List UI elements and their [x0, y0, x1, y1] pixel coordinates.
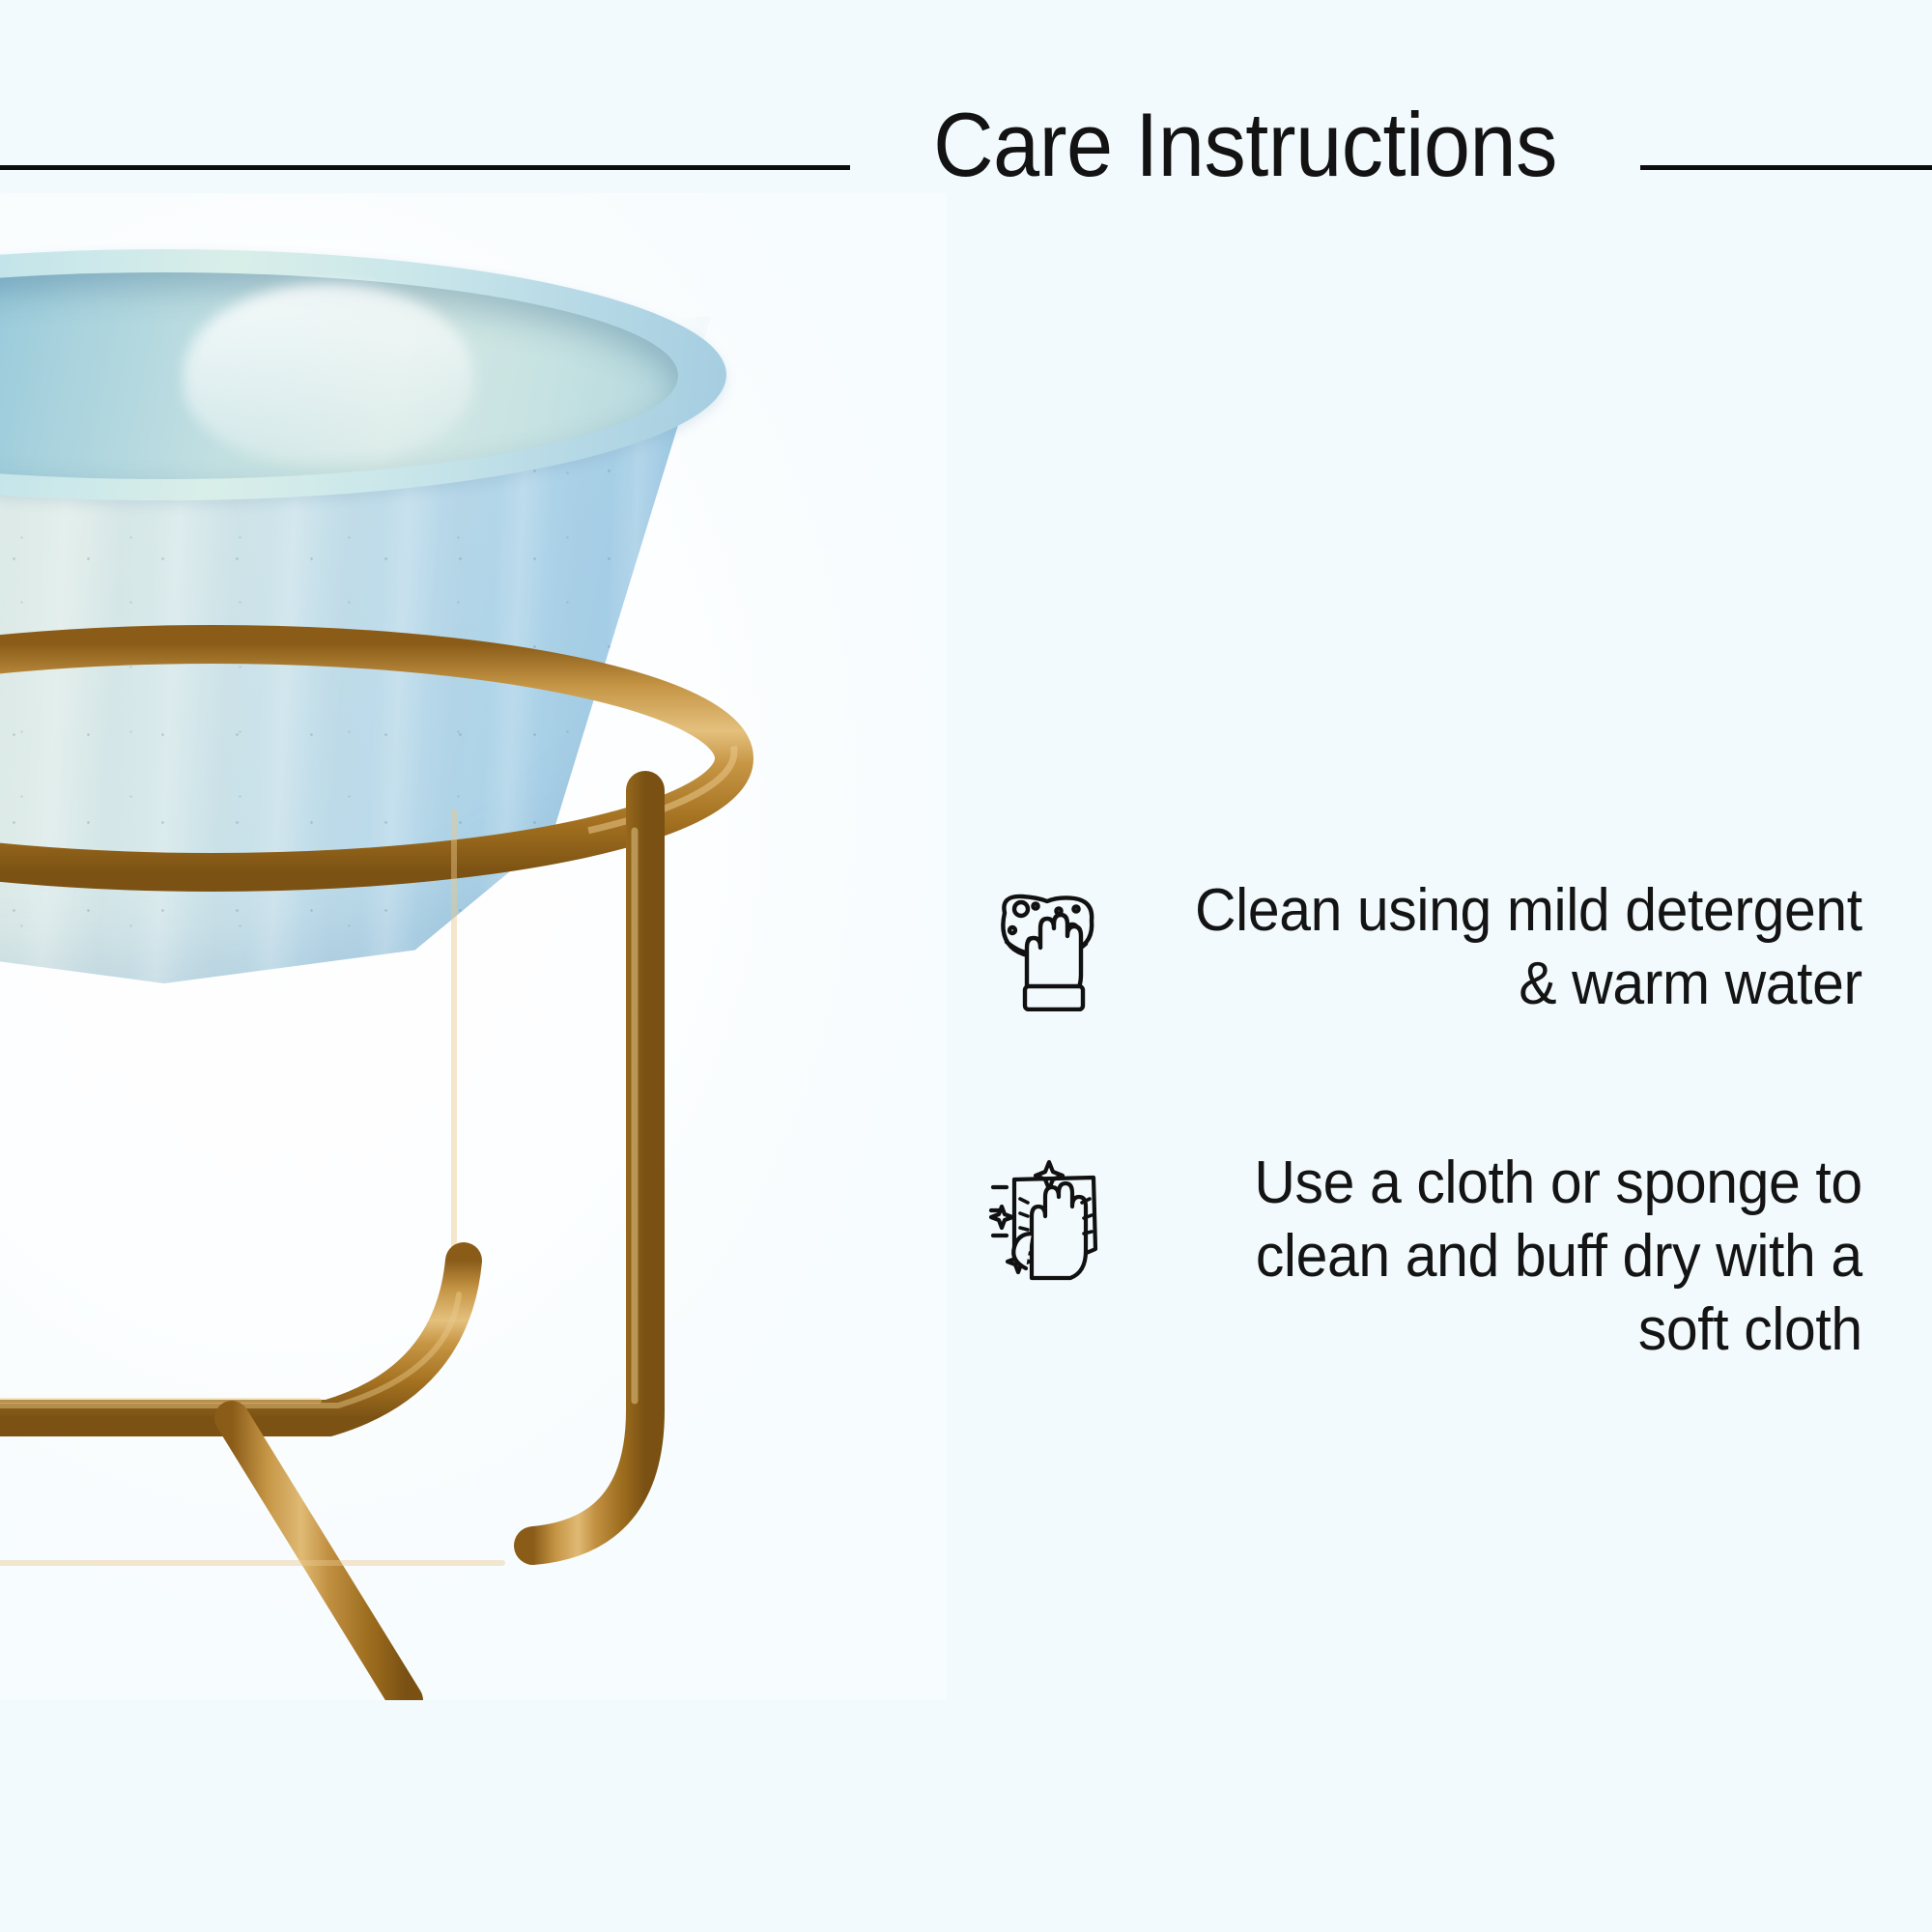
stand-center-strut: [454, 773, 464, 1261]
hand-sponge-icon: [985, 874, 1111, 1019]
stand-collar-ring: [0, 638, 734, 872]
stand-cradle-curve: [0, 1261, 464, 1418]
hand-wiping-cloth-sparkle-icon: [985, 1147, 1111, 1292]
page-header: Care Instructions: [0, 0, 1932, 222]
header-rule-left: [0, 165, 850, 170]
page-title: Care Instructions: [882, 97, 1609, 193]
stand-lower-rail: [0, 1563, 531, 1575]
care-instruction-item: Clean using mild detergent & warm water: [985, 874, 1913, 1021]
care-instruction-item: Use a cloth or sponge to clean and buff …: [985, 1147, 1913, 1367]
care-instruction-text: Clean using mild detergent & warm water: [1151, 874, 1914, 1021]
stand-base-rail: [0, 1401, 348, 1412]
stand-right-leg: [533, 790, 645, 1546]
care-instruction-text: Use a cloth or sponge to clean and buff …: [1151, 1147, 1914, 1367]
header-rule-right: [1640, 165, 1932, 170]
care-instructions-list: Clean using mild detergent & warm water: [985, 874, 1913, 1367]
gold-metal-stand: [0, 193, 811, 1700]
product-photo: [0, 193, 947, 1700]
